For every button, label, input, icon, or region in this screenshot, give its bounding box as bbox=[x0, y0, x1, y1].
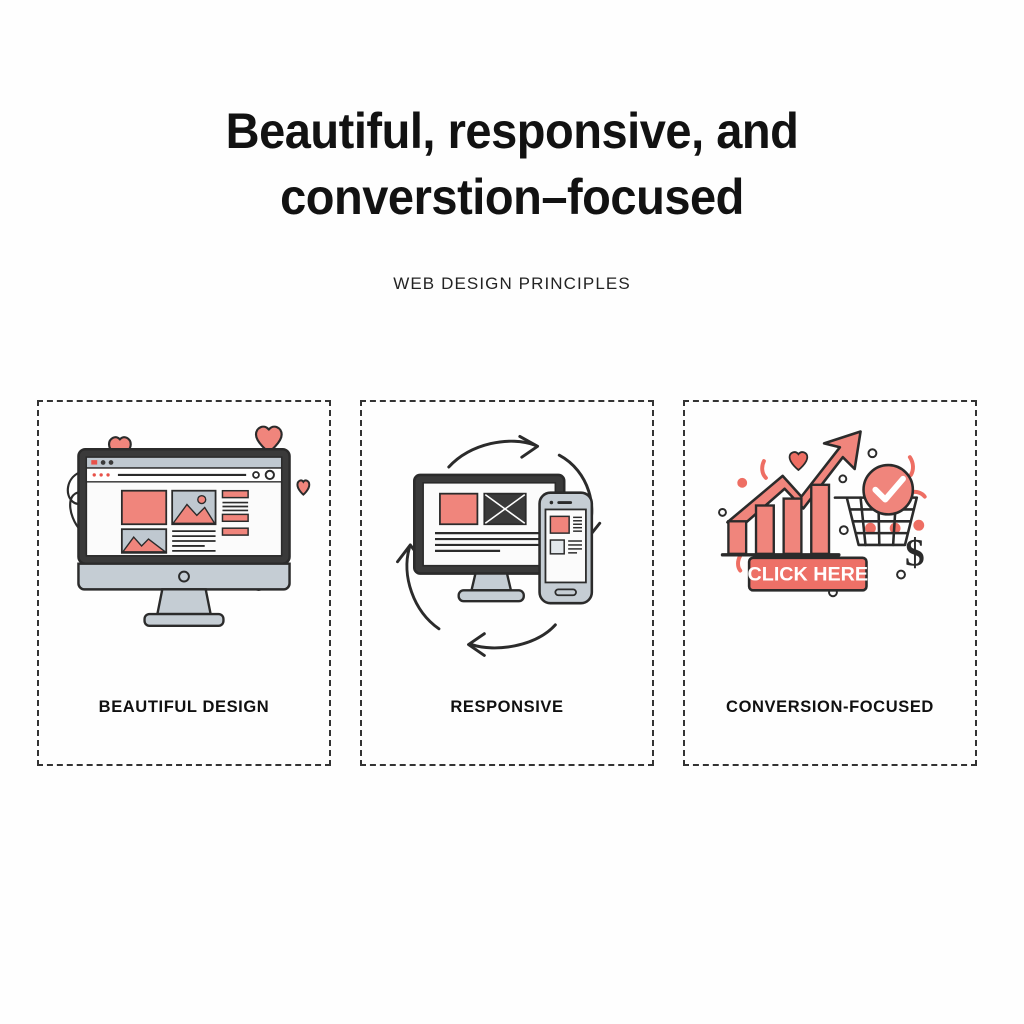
page-title: Beautiful, responsive, and converstion–f… bbox=[183, 0, 841, 230]
beautiful-design-illustration bbox=[39, 408, 329, 676]
confetti-dot bbox=[913, 520, 924, 531]
card-conversion-focused[interactable]: $ CLICK HERE CONVERSION-FOCUSED bbox=[683, 400, 977, 766]
bar-3 bbox=[784, 499, 802, 554]
smartphone-icon bbox=[540, 493, 592, 603]
page-subtitle: WEB DESIGN PRINCIPLES bbox=[0, 230, 1024, 294]
bar-1 bbox=[728, 521, 746, 554]
card-label-conversion-focused: CONVERSION-FOCUSED bbox=[685, 698, 975, 717]
card-beautiful-design[interactable]: BEAUTIFUL DESIGN bbox=[37, 400, 331, 766]
check-circle-icon bbox=[864, 465, 913, 514]
heart-icon bbox=[790, 452, 808, 470]
dollar-sign-icon: $ bbox=[905, 531, 925, 575]
card-label-beautiful-design: BEAUTIFUL DESIGN bbox=[39, 698, 329, 717]
confetti-arc bbox=[762, 461, 766, 478]
bar-2 bbox=[756, 506, 774, 554]
ring bbox=[839, 475, 846, 482]
svg-text:$: $ bbox=[905, 531, 925, 575]
card-label-responsive: RESPONSIVE bbox=[362, 698, 652, 717]
bar-4 bbox=[811, 485, 829, 554]
heart-icon bbox=[297, 480, 309, 494]
confetti-dot bbox=[737, 478, 747, 488]
confetti-arc bbox=[738, 556, 740, 571]
click-here-button: CLICK HERE bbox=[748, 558, 869, 591]
ring bbox=[840, 526, 848, 534]
arc-arrow-top-icon bbox=[449, 441, 536, 467]
confetti-arc bbox=[910, 457, 913, 475]
desktop-monitor-icon bbox=[78, 449, 289, 626]
responsive-illustration bbox=[362, 408, 652, 676]
card-responsive[interactable]: RESPONSIVE bbox=[360, 400, 654, 766]
ring bbox=[868, 449, 876, 457]
conversion-focused-illustration: $ CLICK HERE bbox=[685, 408, 975, 676]
ring bbox=[719, 509, 726, 516]
click-here-button-label: CLICK HERE bbox=[748, 563, 869, 585]
cards-row: BEAUTIFUL DESIGN bbox=[37, 400, 977, 766]
arc-arrow-bottom-icon bbox=[471, 625, 555, 648]
ring bbox=[897, 571, 905, 579]
header: Beautiful, responsive, and converstion–f… bbox=[0, 0, 1024, 294]
illustration-page: Beautiful, responsive, and converstion–f… bbox=[0, 0, 1024, 1024]
